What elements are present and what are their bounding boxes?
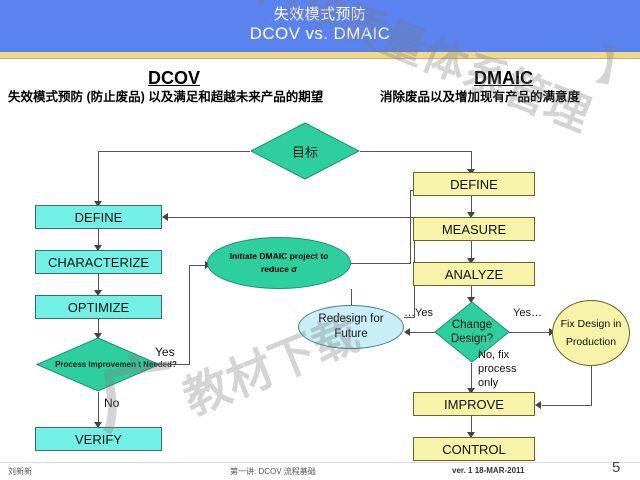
footer-author: 刘新新 [8, 466, 32, 477]
node-dcov-characterize[interactable]: CHARACTERIZE [35, 250, 162, 274]
edge-goal-to-dmaic-define-v [471, 151, 472, 171]
edge-no-v [98, 392, 99, 425]
footer-page-number: 5 [612, 459, 620, 476]
section-heading-dcov: DCOV [148, 68, 200, 89]
edge-arrow-redesign-in [404, 328, 410, 336]
edge-initiate-to-define-h [351, 263, 411, 264]
node-dmaic-analyze-label: ANALYZE [445, 267, 503, 282]
node-initiate-dmaic-oval[interactable]: Initiate DMAIC project to reduce σ [207, 237, 351, 289]
edge-goal-to-dcov-define-h [98, 151, 250, 152]
edge-goal-to-dcov-define-v [98, 151, 99, 203]
header-rule-shadow [0, 58, 640, 59]
node-dmaic-define-label: DEFINE [450, 177, 498, 192]
section-heading-dmaic: DMAIC [474, 68, 533, 89]
node-dmaic-improve-label: IMPROVE [444, 397, 504, 412]
node-redesign-future-label: Redesign for Future [307, 312, 395, 342]
node-dcov-optimize[interactable]: OPTIMIZE [35, 295, 162, 319]
edge-redesign-up-v [351, 289, 352, 305]
node-dcov-verify[interactable]: VERIFY [35, 427, 162, 451]
edge-fixdesign-to-improve-h [542, 405, 591, 406]
node-dcov-define[interactable]: DEFINE [35, 205, 162, 229]
node-initiate-dmaic-label: Initiate DMAIC project to reduce σ [218, 250, 340, 276]
node-fix-design-label: Fix Design in Production [557, 315, 625, 351]
node-dmaic-measure-label: MEASURE [442, 222, 506, 237]
node-dmaic-control-label: CONTROL [442, 442, 506, 457]
edge-yes-h1 [160, 364, 189, 365]
slide-canvas: 失效模式预防 DCOV vs. DMAIC DCOV 失效模式预防 (防止废品)… [0, 0, 640, 480]
edge-initiate-to-define-v [410, 190, 411, 264]
edge-label-yes-fix: Yes… [513, 306, 542, 320]
edge-goal-to-dmaic-define-h [360, 151, 472, 152]
edge-label-no-left: No [104, 396, 119, 410]
edge-arrow-improve-right-in [535, 401, 541, 409]
node-dcov-verify-label: VERIFY [75, 432, 122, 447]
header-title-cn: 失效模式预防 [0, 3, 640, 24]
node-fix-design-oval[interactable]: Fix Design in Production [552, 300, 630, 366]
edge-redesign-to-dcov-define-h [168, 217, 415, 218]
node-dcov-define-label: DEFINE [75, 210, 123, 225]
edge-arrow-dcov-define-in [162, 213, 168, 221]
footer-version: ver. 1 18-MAR-2011 [452, 466, 525, 475]
edge-yes-v [189, 265, 190, 365]
watermark-overlay: 广 教材下载 汽车质量体系管理 】 [0, 0, 640, 480]
node-dmaic-control[interactable]: CONTROL [413, 437, 535, 461]
section-desc-dcov: 失效模式预防 (防止废品) 以及满足和超越未来产品的期望 [8, 90, 370, 105]
footer-divider [0, 462, 640, 463]
header-title-en: DCOV vs. DMAIC [0, 24, 640, 44]
node-dmaic-improve[interactable]: IMPROVE [413, 392, 535, 416]
node-dmaic-analyze[interactable]: ANALYZE [413, 262, 535, 286]
edge-label-yes-redesign: …Yes [404, 306, 433, 320]
node-dmaic-define[interactable]: DEFINE [413, 172, 535, 196]
edge-change-to-improve [471, 363, 472, 391]
edge-change-to-fixdesign [509, 332, 553, 333]
footer-center-text: 第一讲: DCOV 流程基础 [230, 466, 316, 477]
edge-label-no-fix-process: No, fix process only [478, 348, 520, 390]
node-goal[interactable]: 目标 [250, 122, 360, 180]
node-dcov-characterize-label: CHARACTERIZE [48, 255, 149, 270]
node-dcov-optimize-label: OPTIMIZE [68, 300, 129, 315]
edge-fixdesign-to-improve-v [591, 366, 592, 406]
edge-label-yes-left: Yes [155, 345, 175, 359]
node-redesign-future-oval[interactable]: Redesign for Future [298, 305, 404, 349]
node-dcov-decision[interactable]: Process Improvemen t Needed? [36, 337, 160, 392]
section-desc-dmaic: 消除废品以及增加现有产品的满意度 [380, 90, 636, 105]
node-dmaic-measure[interactable]: MEASURE [413, 217, 535, 241]
edge-change-to-redesign [410, 332, 436, 333]
